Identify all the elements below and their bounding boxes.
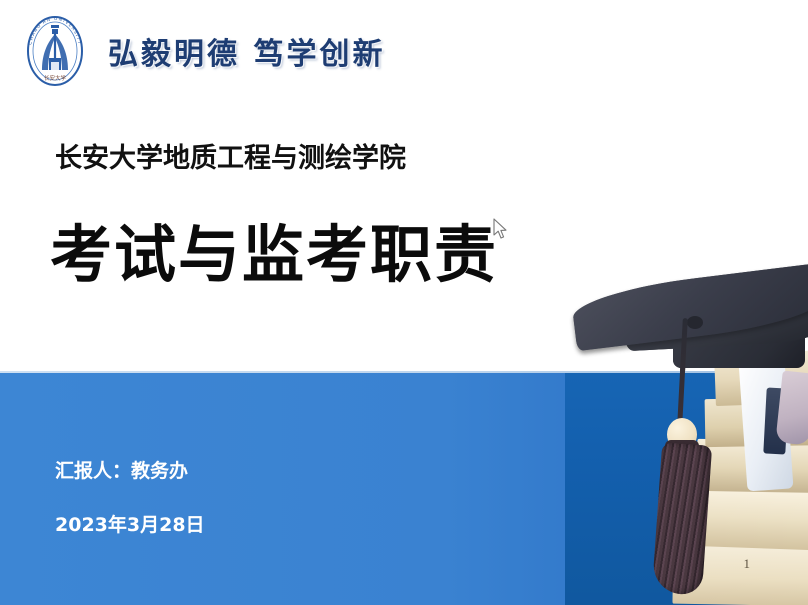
university-motto: 弘毅明德 笃学创新 bbox=[108, 29, 385, 73]
school-name: 长安大学地质工程与测绘学院 bbox=[55, 136, 406, 175]
page-number-front: 1 bbox=[744, 556, 751, 572]
svg-text:长安大学: 长安大学 bbox=[44, 74, 67, 82]
page-title: 考试与监考职责 bbox=[50, 222, 498, 287]
presenter-label: 汇报人：教务办 bbox=[55, 456, 188, 483]
mortarboard-button-front bbox=[687, 316, 703, 329]
date-label: 2023年3月28日 bbox=[55, 510, 205, 537]
tassel-strands-front bbox=[652, 442, 712, 595]
presentation-slide: 1 1 bbox=[0, 0, 808, 605]
cover-photo-foreground: 1 bbox=[565, 0, 808, 605]
slide-header: 长安大学 CHANG'AN UNIVERSITY 弘毅明德 笃学创新 bbox=[18, 12, 385, 90]
university-seal-icon: 长安大学 CHANG'AN UNIVERSITY bbox=[18, 12, 92, 90]
